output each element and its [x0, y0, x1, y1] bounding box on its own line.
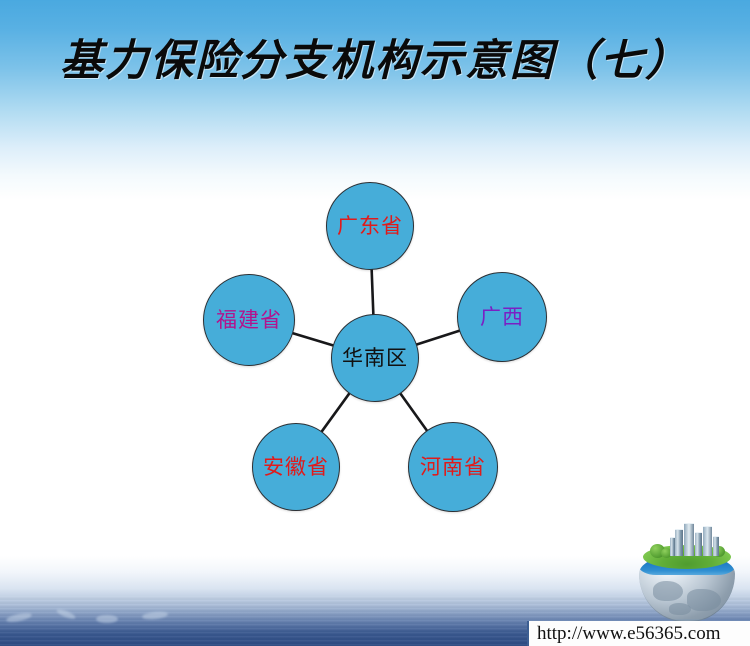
diagram-node-label: 华南区: [342, 348, 408, 369]
connector-line: [400, 393, 427, 431]
connector-line: [292, 333, 334, 346]
watermark-url-text: http://www.e56365.com: [537, 623, 720, 645]
watermark-url-box[interactable]: http://www.e56365.com: [527, 621, 750, 646]
building-icon: [703, 526, 712, 556]
diagram-node-center[interactable]: 华南区: [331, 314, 419, 402]
diagram-node-branch-2[interactable]: 广西: [457, 272, 547, 362]
earth-city-globe-icon: [637, 523, 739, 623]
globe-continent: [669, 603, 691, 615]
diagram-node-branch-4[interactable]: 安徽省: [252, 423, 340, 511]
building-icon: [684, 523, 694, 556]
connector-line: [416, 331, 460, 345]
diagram-node-label: 广东省: [337, 216, 403, 237]
globe-continent: [687, 589, 721, 611]
diagram-node-label: 河南省: [420, 457, 486, 478]
connector-line: [321, 393, 350, 432]
globe-continent: [653, 581, 683, 601]
diagram-node-branch-1[interactable]: 广东省: [326, 182, 414, 270]
building-icon: [695, 532, 702, 556]
building-icon: [713, 536, 719, 556]
slide-canvas: 基力保险分支机构示意图（七） 广东省广西河南省安徽省福建省华南区 http://…: [0, 0, 750, 646]
diagram-node-branch-3[interactable]: 河南省: [408, 422, 498, 512]
diagram-node-label: 安徽省: [263, 457, 329, 478]
diagram-node-branch-5[interactable]: 福建省: [203, 274, 295, 366]
diagram-node-label: 广西: [480, 307, 524, 328]
building-icon: [675, 529, 683, 556]
connector-line: [372, 269, 374, 315]
diagram-node-label: 福建省: [216, 310, 282, 331]
